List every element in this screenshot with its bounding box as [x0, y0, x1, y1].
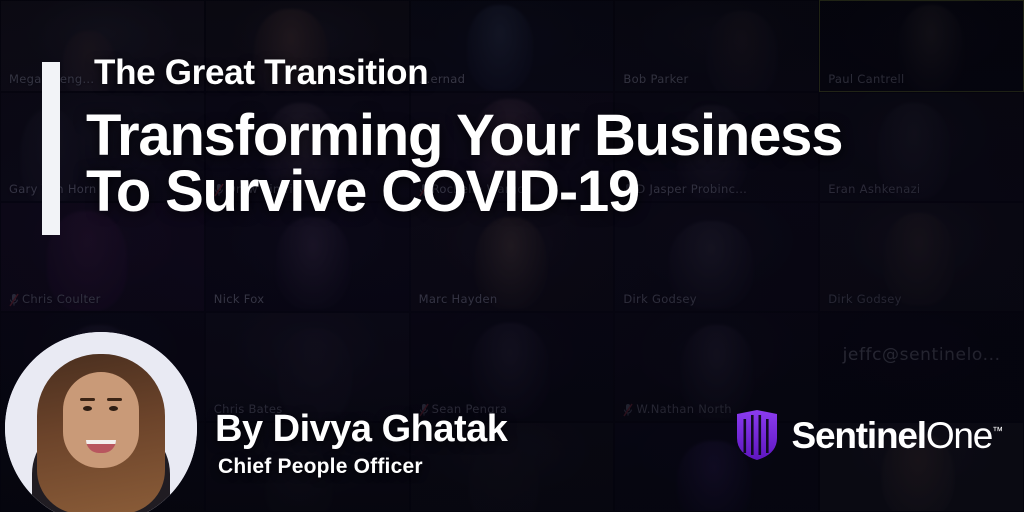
- banner-image: Megan Peng......ernadBob ParkerPaul Cant…: [0, 0, 1024, 512]
- eyebrow-title: The Great Transition: [94, 55, 428, 90]
- author-role: Chief People Officer: [218, 456, 423, 477]
- author-byline: By Divya Ghatak: [215, 410, 507, 448]
- avatar-eye-right: [109, 406, 118, 411]
- avatar-face: [63, 372, 139, 468]
- sentinelone-logo: SentinelOne™: [734, 410, 1002, 460]
- avatar-brow-right: [107, 398, 122, 401]
- avatar: [5, 332, 197, 512]
- headline-line-2: To Survive COVID-19: [86, 164, 1024, 220]
- sentinelone-wordmark: SentinelOne™: [792, 417, 1002, 454]
- accent-bar: [42, 62, 60, 235]
- logo-word-one: One: [926, 415, 992, 456]
- avatar-brow-left: [80, 398, 95, 401]
- page-title: Transforming Your Business To Survive CO…: [86, 108, 1024, 221]
- logo-word-sentinel: Sentinel: [792, 415, 926, 456]
- trademark-symbol: ™: [992, 425, 1002, 437]
- sentinelone-logo-mark: [734, 410, 780, 460]
- avatar-eye-left: [83, 406, 92, 411]
